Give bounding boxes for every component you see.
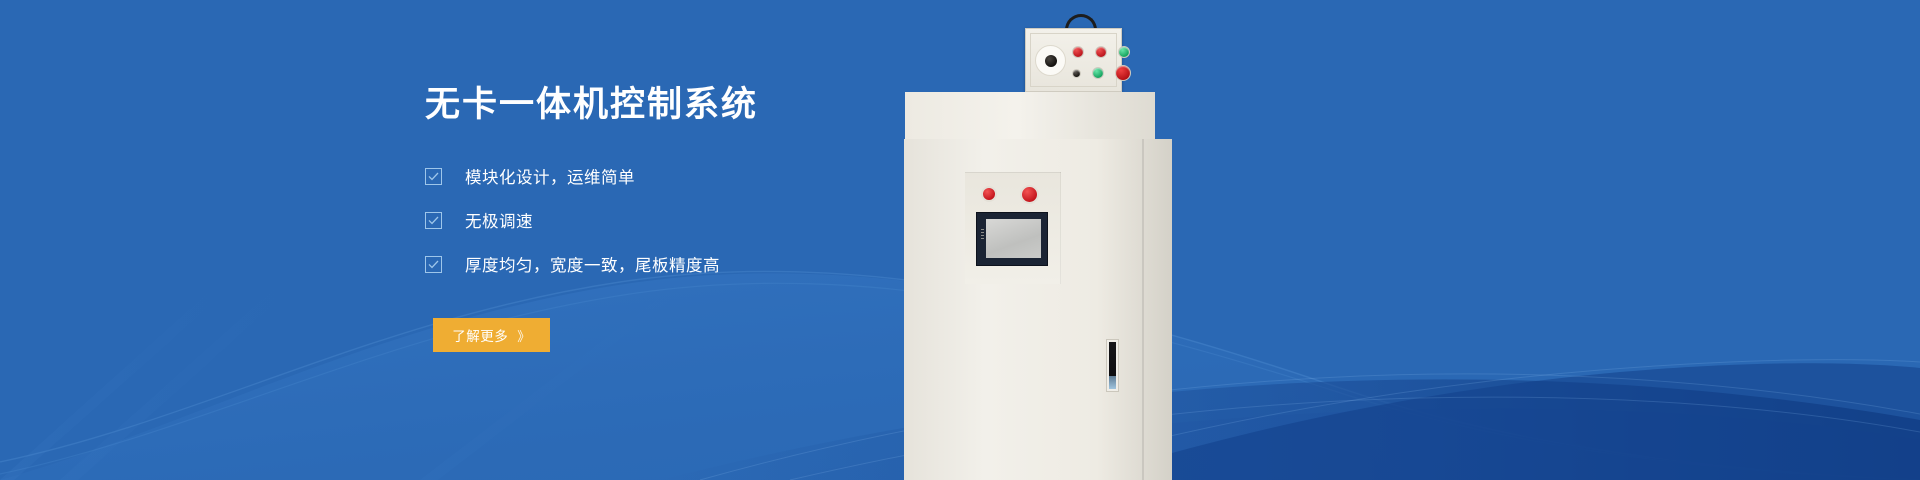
feature-label: 无极调速 xyxy=(465,208,533,232)
learn-more-label: 了解更多 xyxy=(452,325,508,345)
check-icon xyxy=(425,256,442,273)
hero-banner: 无卡一体机控制系统 模块化设计，运维简单 无极调速 厚度均匀，宽度一致，尾板精度… xyxy=(0,0,1920,480)
cabinet-door-handle[interactable] xyxy=(1106,339,1119,392)
indicator-lamp-1[interactable] xyxy=(1072,46,1084,58)
start-button[interactable] xyxy=(1092,67,1104,79)
feature-label: 模块化设计，运维简单 xyxy=(465,164,635,188)
indicator-lamp-2[interactable] xyxy=(1095,46,1107,58)
panel-button-row-bottom xyxy=(1072,67,1131,81)
door-handle-inner xyxy=(1109,342,1116,389)
panel-button-row-top xyxy=(1072,46,1130,58)
page-title: 无卡一体机控制系统 xyxy=(425,84,1065,126)
feature-label: 厚度均匀，宽度一致，尾板精度高 xyxy=(465,252,720,276)
rotary-selector-knob[interactable] xyxy=(1035,45,1066,76)
check-icon xyxy=(425,212,442,229)
emergency-stop-button[interactable] xyxy=(1115,65,1131,81)
list-item: 无极调速 xyxy=(425,208,1065,232)
pilot-switch[interactable] xyxy=(1072,69,1081,78)
check-icon xyxy=(425,168,442,185)
feature-list: 模块化设计，运维简单 无极调速 厚度均匀，宽度一致，尾板精度高 xyxy=(425,164,1065,276)
hero-content: 无卡一体机控制系统 模块化设计，运维简单 无极调速 厚度均匀，宽度一致，尾板精度… xyxy=(425,84,1065,352)
cabinet-door-seam xyxy=(1142,139,1144,480)
indicator-lamp-3[interactable] xyxy=(1118,46,1130,58)
chevron-double-right-icon: 》 xyxy=(517,326,531,345)
knob-center-icon xyxy=(1045,55,1057,67)
list-item: 模块化设计，运维简单 xyxy=(425,164,1065,188)
operator-control-panel xyxy=(1025,28,1122,92)
list-item: 厚度均匀，宽度一致，尾板精度高 xyxy=(425,252,1065,276)
learn-more-button[interactable]: 了解更多 》 xyxy=(433,318,550,352)
